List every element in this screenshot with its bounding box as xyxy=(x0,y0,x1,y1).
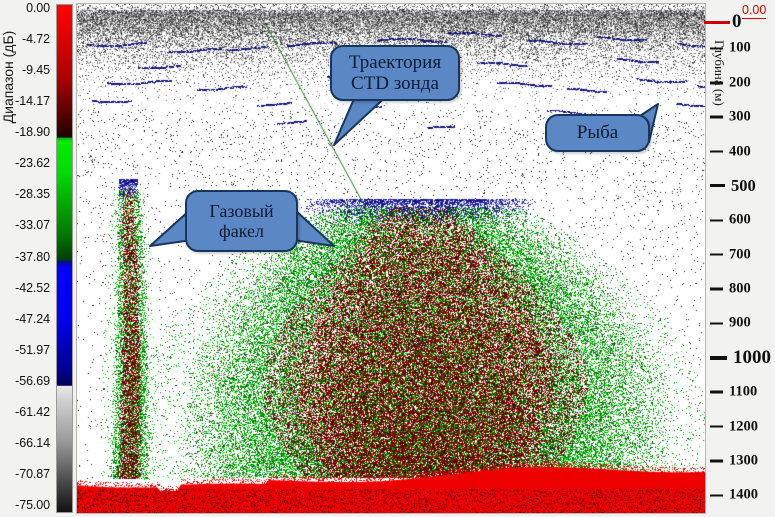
range-tick-label: -28.35 xyxy=(15,187,50,201)
range-tick-label: -18.90 xyxy=(15,125,50,139)
range-tick-label: -23.62 xyxy=(15,156,50,170)
depth-tick-label: 1200 xyxy=(729,418,758,435)
depth-tick-label: 100 xyxy=(729,40,751,57)
depth-tick-label: 1000 xyxy=(733,347,771,369)
depth-tick: 1400 xyxy=(710,487,758,504)
depth-tick-label: 1100 xyxy=(729,384,757,401)
depth-tick: 1100 xyxy=(710,384,757,401)
depth-tick-dash-icon xyxy=(710,391,723,394)
range-tick-label: 0.00 xyxy=(26,1,50,15)
depth-tick-label: 400 xyxy=(729,143,751,160)
callout-gas-line1: Газовый xyxy=(209,201,273,221)
range-tick-label: -75.00 xyxy=(15,498,50,512)
depth-zero-label: 0 xyxy=(732,11,742,33)
depth-tick-label: 800 xyxy=(729,281,751,298)
depth-tick-dash-icon xyxy=(710,150,723,153)
callout-fish-bubble: Рыба xyxy=(545,114,650,152)
depth-tick-dash-icon xyxy=(710,116,723,119)
range-tick-label: -51.97 xyxy=(15,343,50,357)
range-axis-ticks: 0.00-4.72-9.45-14.17-18.90-23.62-28.35-3… xyxy=(0,0,54,517)
range-tick-label: -4.72 xyxy=(22,32,50,46)
range-axis-panel: Диапазон (дБ) 0.00-4.72-9.45-14.17-18.90… xyxy=(0,0,70,517)
depth-zero-marker: 0 xyxy=(704,11,742,33)
range-tick-label: -42.52 xyxy=(15,281,50,295)
callout-gas-bubble: Газовый факел xyxy=(185,190,298,252)
depth-tick: 200 xyxy=(710,74,751,91)
range-tick-label: -33.07 xyxy=(15,218,50,232)
callout-fish-line1: Рыба xyxy=(577,122,618,143)
depth-axis-title: Глубина (м) xyxy=(711,40,727,160)
callout-gas-line2: факел xyxy=(219,221,264,241)
depth-tick-dash-icon xyxy=(710,47,723,50)
depth-tick-dash-icon xyxy=(710,460,723,463)
range-tick-label: -9.45 xyxy=(22,63,50,77)
callout-ctd-line2: CTD зонда xyxy=(351,73,439,94)
range-tick-label: -47.24 xyxy=(15,312,50,326)
depth-tick: 1000 xyxy=(710,347,771,369)
range-tick-label: -37.80 xyxy=(15,250,50,264)
depth-zero-line-icon xyxy=(704,21,730,24)
depth-tick-dash-icon xyxy=(710,184,725,187)
depth-tick: 1200 xyxy=(710,418,758,435)
depth-tick-dash-icon xyxy=(710,288,723,291)
depth-axis-panel: 0 0.00 Глубина (м) 100200300400500600700… xyxy=(706,0,775,517)
depth-tick-dash-icon xyxy=(710,253,723,256)
depth-tick-label: 500 xyxy=(731,176,756,196)
depth-zero-value: 0.00 xyxy=(742,3,766,19)
depth-tick: 400 xyxy=(710,143,751,160)
depth-tick-label: 200 xyxy=(729,74,751,91)
depth-tick: 100 xyxy=(710,40,751,57)
depth-tick-label: 1400 xyxy=(729,487,758,504)
callout-gas-flare[interactable]: Газовый факел xyxy=(150,188,335,263)
range-tick-label: -70.87 xyxy=(15,467,50,481)
depth-tick-label: 900 xyxy=(729,315,751,332)
range-tick-label: -56.69 xyxy=(15,374,50,388)
callout-ctd-bubble: Траектория CTD зонда xyxy=(330,45,460,101)
depth-tick-dash-icon xyxy=(710,494,723,497)
depth-tick-label: 1300 xyxy=(729,452,758,469)
depth-tick-dash-icon xyxy=(710,425,723,428)
depth-tick: 900 xyxy=(710,315,751,332)
depth-tick: 600 xyxy=(710,212,751,229)
depth-tick-label: 700 xyxy=(729,246,751,263)
echogram-figure: Диапазон (дБ) 0.00-4.72-9.45-14.17-18.90… xyxy=(0,0,775,517)
depth-tick: 800 xyxy=(710,281,751,298)
range-tick-label: -61.42 xyxy=(15,405,50,419)
range-tick-label: -66.14 xyxy=(15,436,50,450)
depth-tick: 700 xyxy=(710,246,751,263)
callout-fish[interactable]: Рыба xyxy=(545,104,665,156)
depth-tick-dash-icon xyxy=(710,322,723,325)
callout-ctd-line1: Траектория xyxy=(349,52,441,73)
depth-tick: 300 xyxy=(710,109,751,126)
range-tick-label: -14.17 xyxy=(15,94,50,108)
depth-tick-dash-icon xyxy=(710,219,723,222)
depth-tick-label: 300 xyxy=(729,109,751,126)
depth-tick-label: 600 xyxy=(729,212,751,229)
depth-tick: 500 xyxy=(710,176,756,196)
callout-ctd-trajectory[interactable]: Траектория CTD зонда xyxy=(320,45,470,150)
depth-tick: 1300 xyxy=(710,452,758,469)
depth-tick-dash-icon xyxy=(710,356,727,360)
depth-tick-dash-icon xyxy=(710,82,723,85)
colorbar xyxy=(56,4,73,513)
